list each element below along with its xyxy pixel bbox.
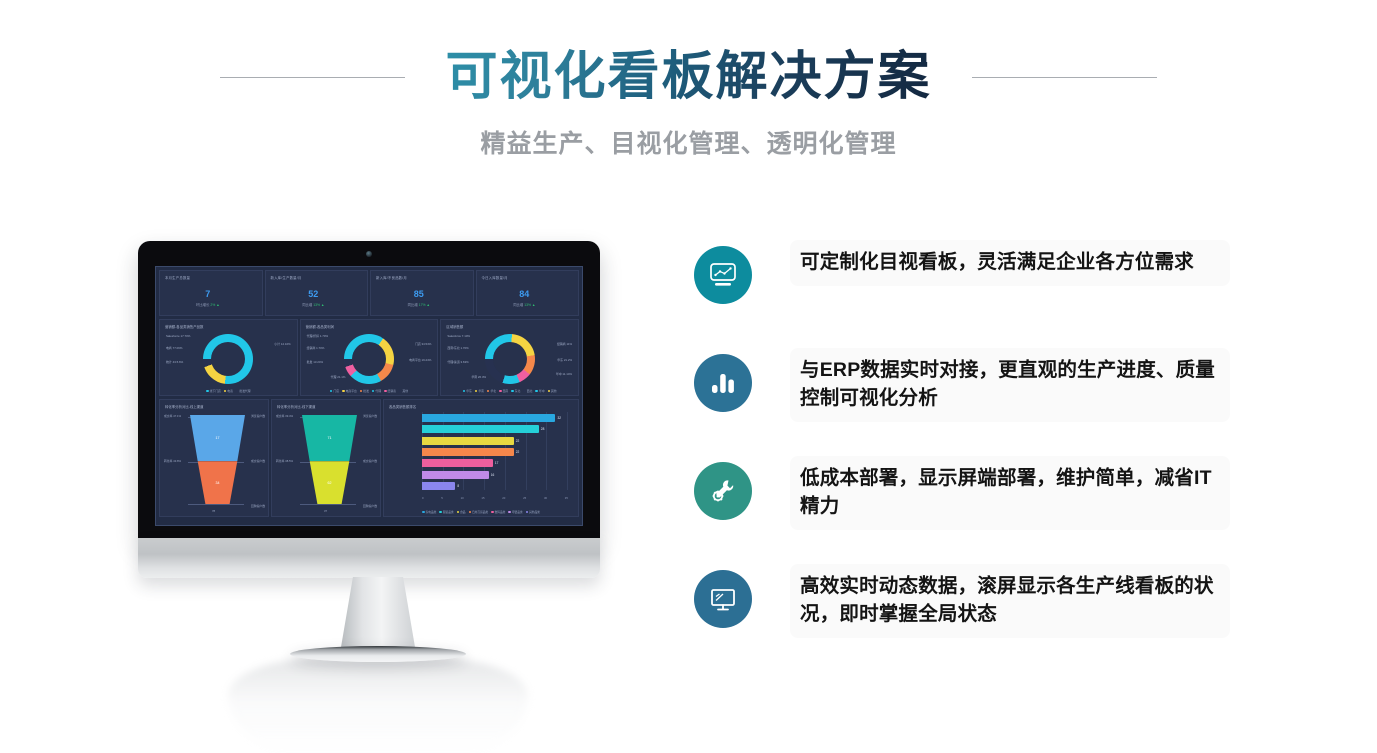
legend-item: 日用百货品类 <box>469 510 489 514</box>
legend-item: 批发代理 <box>236 389 251 393</box>
legend-item: 其他品类 <box>526 510 540 514</box>
feature-item: 高效实时动态数据，滚屏显示各生产线看板的状况，即时掌握全局状态 <box>690 564 1230 672</box>
funnel-side-label: 成交率 39.4% <box>276 414 293 418</box>
funnel-stage-label: 浏览客户数 <box>363 414 377 418</box>
legend-item: 母婴品类 <box>508 510 522 514</box>
decorative-rule-left <box>220 77 405 78</box>
card-title: 转化率分析对比-线下渠道 <box>277 404 375 409</box>
donut-holder <box>160 332 297 385</box>
legend-item: 线下门店 <box>206 389 221 393</box>
funnel-value: 71 <box>328 436 332 440</box>
bar-chart-bar: 22 <box>422 448 514 456</box>
webcam-icon <box>366 251 372 257</box>
feature-text: 与ERP数据实时对接，更直观的生产进度、质量控制可视化分析 <box>790 348 1230 422</box>
kpi-card: 新入库/不良品数/月85同比增 17% ▲ <box>370 270 474 316</box>
legend-item: 服装品类 <box>439 510 453 514</box>
funnel-value: 62 <box>328 481 332 485</box>
legend-item: 其他 <box>548 389 557 393</box>
dashboard: 本月生产总数量7环比增长 2% ▲新入库/生产数量/月52同比增 13% ▲新入… <box>156 267 582 525</box>
bar-value-label: 17 <box>495 461 499 465</box>
funnel-stage-label: 浏览客户数 <box>251 414 265 418</box>
page-subtitle: 精益生产、目视化管理、透明化管理 <box>0 124 1377 160</box>
axis-tick-label: 0 <box>422 496 424 500</box>
card-title: 各品类销售额排名 <box>389 404 573 409</box>
kpi-sub-label: 同比增 <box>408 303 418 307</box>
page-header: 可视化看板解决方案 精益生产、目视化管理、透明化管理 <box>0 0 1377 180</box>
funnel-side-label: 转化率 43.8% <box>164 459 181 463</box>
axis-tick-label: 5 <box>441 496 443 500</box>
feature-text: 低成本部署，显示屏端部署，维护简单，减省IT精力 <box>790 456 1230 530</box>
kpi-label: 新入库/不良品数/月 <box>376 275 468 280</box>
funnel-chart: 1734 <box>190 415 245 504</box>
kpi-trend-value: 2% ▲ <box>210 303 219 307</box>
donut-legend: 线下门店电商批发代理 <box>160 389 297 393</box>
monitor-stand-neck <box>340 577 416 653</box>
bar-chart-card: 各品类销售额排名322822221716805101520253035家电品类服… <box>383 399 579 517</box>
kpi-card: 新入库/生产数量/月52同比增 13% ▲ <box>265 270 369 316</box>
kpi-card: 今日入库数量/月84同比增 13% ▲ <box>476 270 580 316</box>
funnel-bottom-value: 37 <box>324 509 327 513</box>
kpi-value: 7 <box>160 289 256 299</box>
bar-chart-bar: 32 <box>422 414 555 422</box>
axis-tick-label: 10 <box>461 496 464 500</box>
funnel-side-label: 转化率 38.5% <box>276 459 293 463</box>
legend-item: 食品 <box>457 510 466 514</box>
kpi-label: 新入库/生产数量/月 <box>271 275 363 280</box>
kpi-sub-label: 同比增 <box>302 303 312 307</box>
monitor-screen: 本月生产总数量7环比增长 2% ▲新入库/生产数量/月52同比增 13% ▲新入… <box>155 266 583 526</box>
donut-chart-card: 营销额-各品类利润代理/折扣 1.70%经销商 1.70%批发 13.24%门店… <box>300 319 439 396</box>
funnel-chart: 7162 <box>302 415 357 504</box>
bar-value-label: 22 <box>516 450 520 454</box>
monitor-bezel: 本月生产总数量7环比增长 2% ▲新入库/生产数量/月52同比增 13% ▲新入… <box>138 241 600 541</box>
legend-item: 华北 <box>487 389 496 393</box>
donut-chart <box>203 334 253 384</box>
legend-item: 西南 <box>499 389 508 393</box>
kpi-value: 52 <box>266 289 362 299</box>
feature-text: 高效实时动态数据，滚屏显示各生产线看板的状况，即时掌握全局状态 <box>790 564 1230 638</box>
kpi-trend-value: 17% ▲ <box>419 303 430 307</box>
bar-chart-bar: 28 <box>422 425 539 433</box>
card-title: 区域销售额 <box>446 324 573 329</box>
kpi-label: 今日入库数量/月 <box>482 275 574 280</box>
bar-chart-bars: 3228222217168 <box>422 414 568 490</box>
axis-tick-label: 30 <box>544 496 547 500</box>
funnel-value: 17 <box>216 436 220 440</box>
legend-item: 其他 <box>399 389 408 393</box>
decorative-rule-right <box>972 77 1157 78</box>
donut-legend: 华东华南华北西南东北西北华中其他 <box>441 389 578 393</box>
title-row: 可视化看板解决方案 <box>0 42 1377 112</box>
wrench-gear-icon <box>694 462 752 520</box>
funnel-bottom-value: 78 <box>212 509 215 513</box>
bar-chart-icon <box>694 354 752 412</box>
bar-chart-axis: 05101520253035 <box>422 496 568 500</box>
bar-chart-bar: 22 <box>422 437 514 445</box>
page-title: 可视化看板解决方案 <box>445 44 931 110</box>
donut-chart-card: 营销额-各品类销售产品数Salesforce 17.70%电商 77.06%统计… <box>159 319 298 396</box>
donut-chart-card: 区域销售额Salesforce 7.10%西南/东北 1.70%代理/渠道 3.… <box>440 319 579 396</box>
legend-item: 西北 <box>523 389 532 393</box>
bar-value-label: 22 <box>516 439 520 443</box>
kpi-subtext: 同比增 13% ▲ <box>266 302 362 307</box>
legend-item: 华东 <box>463 389 472 393</box>
legend-item: 门店 <box>330 389 339 393</box>
donut-legend: 门店电商平台批发代理经销商其他 <box>301 389 438 393</box>
axis-tick-label: 25 <box>523 496 526 500</box>
kpi-sub-label: 环比增长 <box>196 303 210 307</box>
kpi-value: 85 <box>371 289 467 299</box>
legend-item: 华中 <box>535 389 544 393</box>
bar-value-label: 8 <box>457 484 459 488</box>
bar-value-label: 28 <box>541 427 545 431</box>
bar-value-label: 32 <box>557 416 561 420</box>
feature-list: 可定制化目视看板，灵活满足企业各方位需求与ERP数据实时对接，更直观的生产进度、… <box>690 240 1230 672</box>
feature-item: 与ERP数据实时对接，更直观的生产进度、质量控制可视化分析 <box>690 348 1230 456</box>
feature-item: 可定制化目视看板，灵活满足企业各方位需求 <box>690 240 1230 348</box>
kpi-row: 本月生产总数量7环比增长 2% ▲新入库/生产数量/月52同比增 13% ▲新入… <box>159 270 579 316</box>
monitor-reflection <box>228 658 528 753</box>
kpi-label: 本月生产总数量 <box>165 275 257 280</box>
card-title: 转化率分析对比-线上渠道 <box>165 404 263 409</box>
funnel-stage-label: 成交客户数 <box>363 459 377 463</box>
display-screen-icon <box>694 570 752 628</box>
legend-item: 经销商 <box>384 389 396 393</box>
kpi-value: 84 <box>477 289 573 299</box>
axis-tick-label: 20 <box>502 496 505 500</box>
funnel-stage-label: 回购客户数 <box>363 504 377 508</box>
donut-holder <box>301 332 438 385</box>
kpi-trend-value: 13% ▲ <box>313 303 324 307</box>
donut-holder <box>441 332 578 385</box>
funnel-stage-label: 回购客户数 <box>251 504 265 508</box>
bar-chart-bar: 16 <box>422 471 489 479</box>
legend-item: 电商 <box>224 389 233 393</box>
kpi-trend-value: 13% ▲ <box>524 303 535 307</box>
bar-chart-bar: 17 <box>422 459 493 467</box>
funnel-chart-card: 转化率分析对比-线下渠道成交率 39.4%转化率 38.5%浏览客户数成交客户数… <box>271 399 381 517</box>
kpi-subtext: 同比增 17% ▲ <box>371 302 467 307</box>
monitor-mockup: 本月生产总数量7环比增长 2% ▲新入库/生产数量/月52同比增 13% ▲新入… <box>118 228 638 678</box>
legend-item: 代理 <box>372 389 381 393</box>
legend-item: 华南 <box>475 389 484 393</box>
legend-item: 数码品类 <box>491 510 505 514</box>
kpi-subtext: 环比增长 2% ▲ <box>160 302 256 307</box>
kpi-sub-label: 同比增 <box>513 303 523 307</box>
donut-chart <box>485 334 535 384</box>
feature-text: 可定制化目视看板，灵活满足企业各方位需求 <box>790 240 1230 286</box>
kpi-card: 本月生产总数量7环比增长 2% ▲ <box>159 270 263 316</box>
axis-tick-label: 35 <box>565 496 568 500</box>
legend-item: 批发 <box>360 389 369 393</box>
poster-root: 可视化看板解决方案 精益生产、目视化管理、透明化管理 本月生产总数量7环比增长 … <box>0 0 1377 753</box>
funnel-value: 34 <box>216 481 220 485</box>
legend-item: 电商平台 <box>342 389 357 393</box>
kpi-subtext: 同比增 13% ▲ <box>477 302 573 307</box>
donut-row: 营销额-各品类销售产品数Salesforce 17.70%电商 77.06%统计… <box>159 319 579 396</box>
bar-chart-legend: 家电品类服装品类食品日用百货品类数码品类母婴品类其他品类 <box>384 510 578 514</box>
axis-tick-label: 15 <box>481 496 484 500</box>
funnel-side-label: 成交率 47.1% <box>164 414 181 418</box>
funnel-chart-card: 转化率分析对比-线上渠道成交率 47.1%转化率 43.8%浏览客户数成交客户数… <box>159 399 269 517</box>
bottom-row: 转化率分析对比-线上渠道成交率 47.1%转化率 43.8%浏览客户数成交客户数… <box>159 399 579 517</box>
card-title: 营销额-各品类销售产品数 <box>165 324 292 329</box>
monitor-line-chart-icon <box>694 246 752 304</box>
monitor-stand-base <box>290 646 466 662</box>
legend-item: 东北 <box>511 389 520 393</box>
bar-value-label: 16 <box>491 473 495 477</box>
donut-chart <box>344 334 394 384</box>
funnel-stage-label: 成交客户数 <box>251 459 265 463</box>
bar-chart-bar: 8 <box>422 482 455 490</box>
monitor-chin <box>138 538 600 578</box>
card-title: 营销额-各品类利润 <box>306 324 433 329</box>
feature-item: 低成本部署，显示屏端部署，维护简单，减省IT精力 <box>690 456 1230 564</box>
legend-item: 家电品类 <box>422 510 436 514</box>
